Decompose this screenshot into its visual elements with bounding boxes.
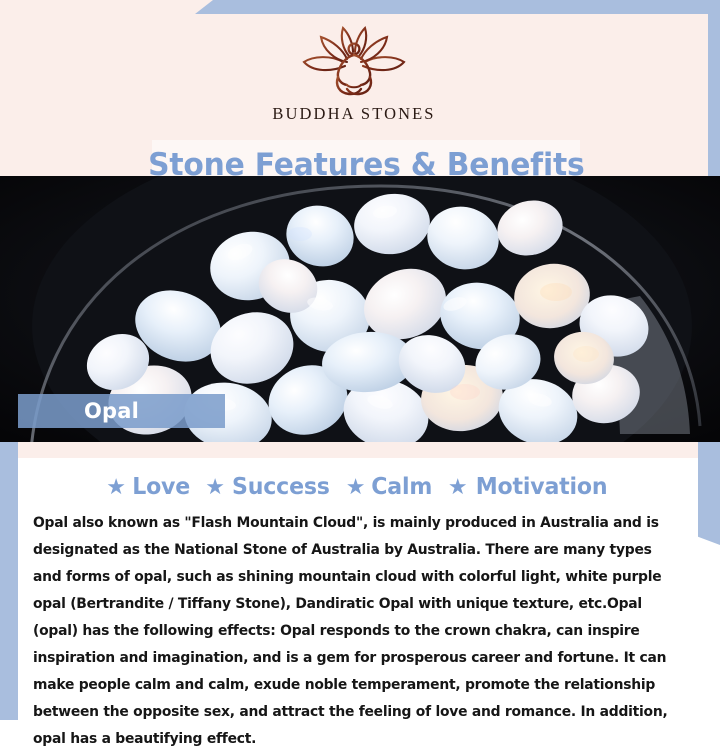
- title-banner: Stone Features & Benefits: [152, 140, 580, 176]
- star-icon: ★: [346, 476, 366, 498]
- benefit-item-love: ★ Love: [106, 474, 191, 500]
- right-blue-rail: [698, 442, 720, 545]
- benefit-item-motivation: ★ Motivation: [448, 474, 610, 500]
- stone-name: Opal: [18, 399, 139, 423]
- star-icon: ★: [205, 476, 225, 498]
- header-section: BUDDHA STONES Stone Features & Benefits: [0, 0, 720, 176]
- star-icon: ★: [106, 476, 126, 498]
- left-blue-rail: [0, 442, 18, 720]
- benefit-label: Success: [232, 474, 330, 500]
- description-content: ★ Love ★ Success ★ Calm ★ Motivation Opa…: [18, 458, 698, 720]
- benefit-label: Love: [132, 474, 190, 500]
- pink-divider-strip: [18, 442, 698, 458]
- stone-name-badge: Opal: [18, 394, 225, 428]
- star-icon: ★: [448, 476, 468, 498]
- page-title: Stone Features & Benefits: [148, 147, 584, 176]
- benefit-label: Motivation: [475, 474, 607, 500]
- product-infographic: BUDDHA STONES Stone Features & Benefits: [0, 0, 720, 720]
- benefit-label: Calm: [372, 474, 433, 500]
- lotus-meditation-icon: [293, 22, 415, 102]
- brand-logo: BUDDHA STONES: [0, 22, 708, 124]
- benefit-item-success: ★ Success: [205, 474, 332, 500]
- stone-description-text: Opal also known as "Flash Mountain Cloud…: [33, 510, 676, 753]
- description-section: ★ Love ★ Success ★ Calm ★ Motivation Opa…: [0, 442, 720, 720]
- header-inner: BUDDHA STONES Stone Features & Benefits: [0, 14, 708, 176]
- top-blue-band: [195, 0, 720, 14]
- benefits-list: ★ Love ★ Success ★ Calm ★ Motivation: [18, 474, 698, 500]
- benefit-item-calm: ★ Calm: [346, 474, 434, 500]
- right-blue-edge: [708, 0, 720, 176]
- product-photo: Opal: [0, 176, 720, 442]
- brand-name: BUDDHA STONES: [272, 104, 435, 124]
